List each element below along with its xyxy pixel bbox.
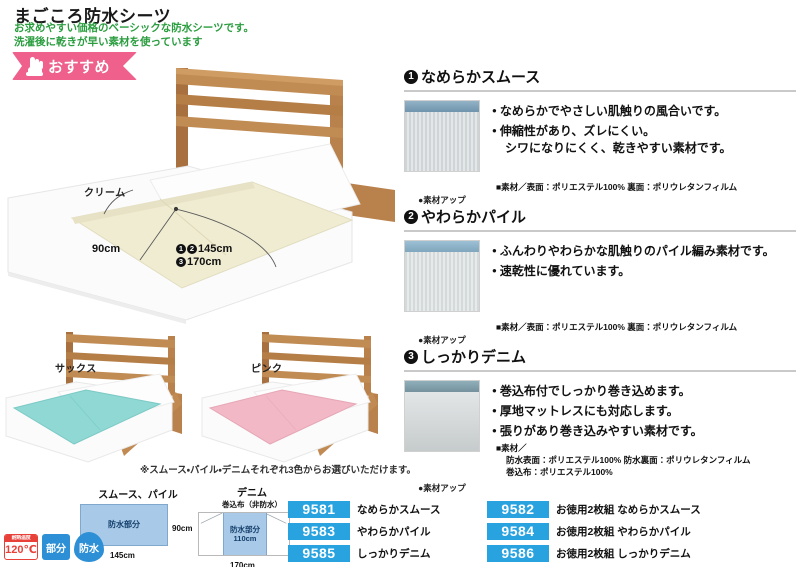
- section-denim: 3 しっかりデニム ●素材アップ 巻込布付でしっかり巻き込めます。 厚地マットレ…: [404, 346, 796, 494]
- divider: [404, 370, 796, 372]
- pink-color-label: ピンク: [251, 360, 283, 375]
- product-codes-single: 9581 なめらかスムース 9583 やわらかパイル 9585 しっかりデニム: [288, 500, 440, 566]
- denim-material-spec: ■素材／ 防水表面：ポリエステル100% 防水裏面：ポリウレタンフィルム 巻込布…: [496, 442, 751, 478]
- fold-left-icon: [199, 513, 225, 525]
- product-code: 9586: [487, 545, 549, 562]
- table-row[interactable]: 9586 お徳用2枚組 しっかりデニム: [487, 544, 701, 563]
- table-row[interactable]: 9583 やわらかパイル: [288, 522, 440, 541]
- diagram-denim-outer: 防水部分 110cm: [198, 512, 290, 556]
- main-color-label: クリーム: [84, 184, 126, 199]
- section-pile: 2 やわらかパイル ●素材アップ ふんわりやわらかな肌触りのパイル編み素材です。…: [404, 206, 796, 346]
- main-dim-length-3: 3170cm: [176, 256, 232, 269]
- list-item: 巻込布付でしっかり巻き込めます。: [492, 382, 796, 400]
- diagram-smooth-pile-title: スムース、パイル: [78, 486, 198, 501]
- product-name: お徳用2枚組 やわらかパイル: [556, 524, 691, 539]
- product-codes-twinpack: 9582 お徳用2枚組 なめらかスムース 9584 お徳用2枚組 やわらかパイル…: [487, 500, 701, 566]
- table-row[interactable]: 9582 お徳用2枚組 なめらかスムース: [487, 500, 701, 519]
- marker-2-icon: 2: [187, 244, 197, 254]
- diagram-smooth-pile-height: 90cm: [172, 524, 192, 533]
- list-item: 張りがあり巻き込みやすい素材です。: [492, 422, 796, 440]
- list-item: ふんわりやわらかな肌触りのパイル編み素材です。: [492, 242, 796, 260]
- pink-bed-photo: ピンク: [196, 330, 396, 465]
- smooth-swatch-block: ●素材アップ: [404, 100, 480, 206]
- table-row[interactable]: 9585 しっかりデニム: [288, 544, 440, 563]
- diagram-denim-width: 170cm: [230, 561, 255, 567]
- product-name: しっかりデニム: [357, 546, 431, 561]
- marker-3-icon: 3: [176, 257, 186, 267]
- section-smooth: 1 なめらかスムース ●素材アップ なめらかでやさしい肌触りの風合いです。 伸縮…: [404, 66, 796, 206]
- partial-icon: 部分: [42, 534, 70, 560]
- product-name: お徳用2枚組 なめらかスムース: [556, 502, 701, 517]
- heat-caption: 耐熱温度: [5, 535, 37, 542]
- subtitle-line-2: 洗濯後に乾きが早い素材を使っています: [14, 36, 254, 50]
- product-code: 9582: [487, 501, 549, 518]
- page-subtitle: お求めやすい価格のベーシックな防水シーツです。 洗濯後に乾きが早い素材を使ってい…: [14, 22, 254, 49]
- section-pile-title: やわらかパイル: [421, 206, 526, 227]
- section-denim-title: しっかりデニム: [421, 346, 526, 367]
- table-row[interactable]: 9584 お徳用2枚組 やわらかパイル: [487, 522, 701, 541]
- smooth-material-spec: ■素材／表面：ポリエステル100% 裏面：ポリウレタンフィルム: [496, 181, 737, 193]
- main-dim-width: 90cm: [92, 243, 120, 255]
- number-2-icon: 2: [404, 210, 418, 224]
- feature-badges: 耐熱温度 120℃ 部分 防水: [4, 532, 104, 562]
- list-item: 厚地マットレスにも対応します。: [492, 402, 796, 420]
- sax-bed-photo: サックス: [0, 330, 200, 465]
- pile-material-spec: ■素材／表面：ポリエステル100% 裏面：ポリウレタンフィルム: [496, 321, 737, 333]
- diagram-denim-area: 防水部分 110cm: [223, 513, 267, 555]
- number-1-icon: 1: [404, 70, 418, 84]
- diagram-smooth-pile-width: 145cm: [110, 551, 135, 560]
- heat-value: 120℃: [5, 542, 37, 558]
- list-item: 速乾性に優れています。: [492, 262, 796, 280]
- section-pile-heading: 2 やわらかパイル: [404, 206, 796, 230]
- product-name: やわらかパイル: [357, 524, 431, 539]
- denim-fabric-swatch: [404, 380, 480, 452]
- section-denim-heading: 3 しっかりデニム: [404, 346, 796, 370]
- smooth-fabric-swatch: [404, 100, 480, 172]
- product-code: 9585: [288, 545, 350, 562]
- denim-swatch-block: ●素材アップ: [404, 380, 480, 494]
- subtitle-line-1: お求めやすい価格のベーシックな防水シーツです。: [14, 22, 254, 36]
- product-code: 9584: [487, 523, 549, 540]
- main-dim-length-12: 12145cm: [176, 243, 232, 256]
- divider: [404, 230, 796, 232]
- waterproof-icon: 防水: [74, 532, 104, 562]
- list-item: なめらかでやさしい肌触りの風合いです。: [492, 102, 796, 120]
- diagram-denim-title: デニム: [196, 484, 308, 499]
- number-3-icon: 3: [404, 350, 418, 364]
- color-availability-note: ※スムース・パイル・デニムそれぞれ3色からお選びいただけます。: [140, 462, 416, 476]
- marker-1-icon: 1: [176, 244, 186, 254]
- product-name: お徳用2枚組 しっかりデニム: [556, 546, 691, 561]
- section-smooth-heading: 1 なめらかスムース: [404, 66, 796, 90]
- product-name: なめらかスムース: [357, 502, 440, 517]
- main-bed-photo: クリーム 90cm 12145cm 3170cm: [0, 62, 395, 327]
- pile-fabric-swatch: [404, 240, 480, 312]
- product-code: 9581: [288, 501, 350, 518]
- denim-swatch-caption: ●素材アップ: [404, 482, 480, 494]
- table-row[interactable]: 9581 なめらかスムース: [288, 500, 440, 519]
- catalog-page: まごころ防水シーツ お求めやすい価格のベーシックな防水シーツです。 洗濯後に乾き…: [0, 0, 798, 567]
- sax-color-label: サックス: [55, 360, 97, 375]
- pile-swatch-block: ●素材アップ: [404, 240, 480, 346]
- main-dim-lengths: 12145cm 3170cm: [176, 243, 232, 269]
- pile-swatch-caption: ●素材アップ: [404, 334, 480, 346]
- heat-resistance-icon: 耐熱温度 120℃: [4, 534, 38, 560]
- product-code: 9583: [288, 523, 350, 540]
- list-item: 伸縮性があり、ズレにくい。シワになりにくく、乾きやすい素材です。: [492, 122, 796, 157]
- smooth-swatch-caption: ●素材アップ: [404, 194, 480, 206]
- divider: [404, 90, 796, 92]
- section-smooth-title: なめらかスムース: [421, 66, 540, 87]
